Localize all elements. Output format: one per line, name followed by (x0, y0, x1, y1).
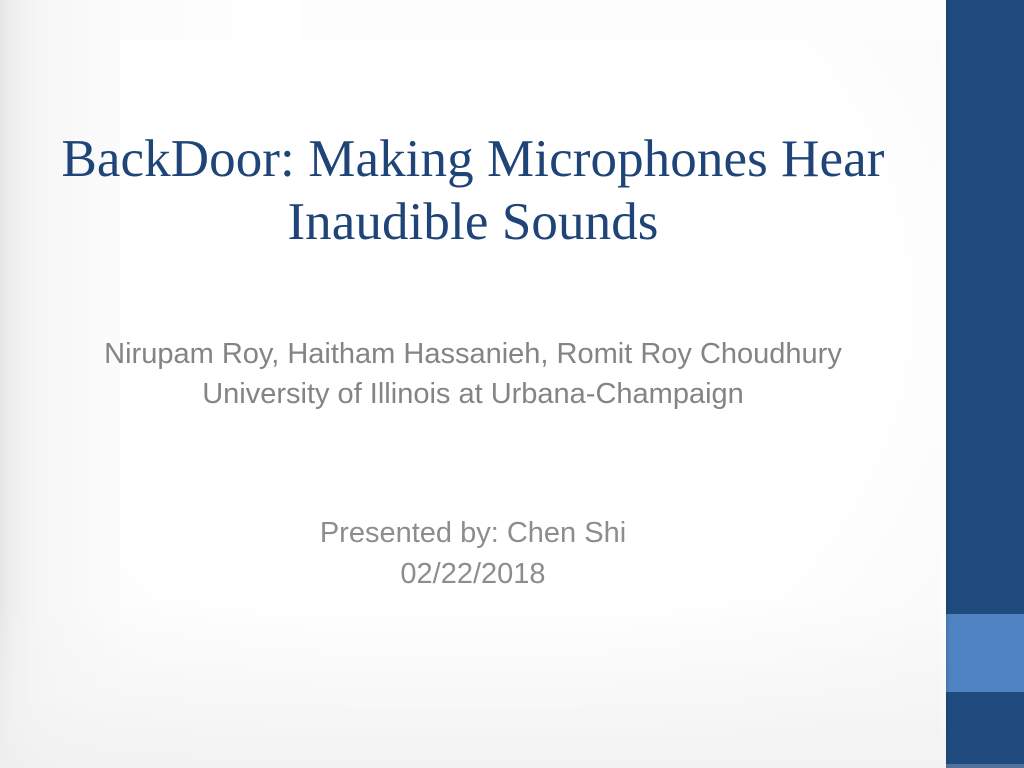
presenter-placeholder: Presented by: Chen Shi 02/22/2018 (24, 513, 922, 595)
slide-content: BackDoor: Making Microphones Hear Inaudi… (0, 0, 946, 768)
authors-placeholder: Nirupam Roy, Haitham Hassanieh, Romit Ro… (24, 334, 922, 414)
author-affiliation: University of Illinois at Urbana-Champai… (24, 374, 922, 414)
accent-band-footer-line (946, 764, 1024, 768)
author-names: Nirupam Roy, Haitham Hassanieh, Romit Ro… (24, 334, 922, 374)
accent-band-segment-upper (946, 0, 1024, 614)
title-placeholder: BackDoor: Making Microphones Hear Inaudi… (24, 128, 922, 254)
title-slide: BackDoor: Making Microphones Hear Inaudi… (0, 0, 1024, 768)
right-accent-band (946, 0, 1024, 768)
slide-title: BackDoor: Making Microphones Hear Inaudi… (24, 128, 922, 254)
presented-by: Presented by: Chen Shi (24, 513, 922, 554)
accent-band-segment-lower (946, 692, 1024, 768)
accent-band-segment-highlight (946, 614, 1024, 692)
presentation-date: 02/22/2018 (24, 554, 922, 595)
